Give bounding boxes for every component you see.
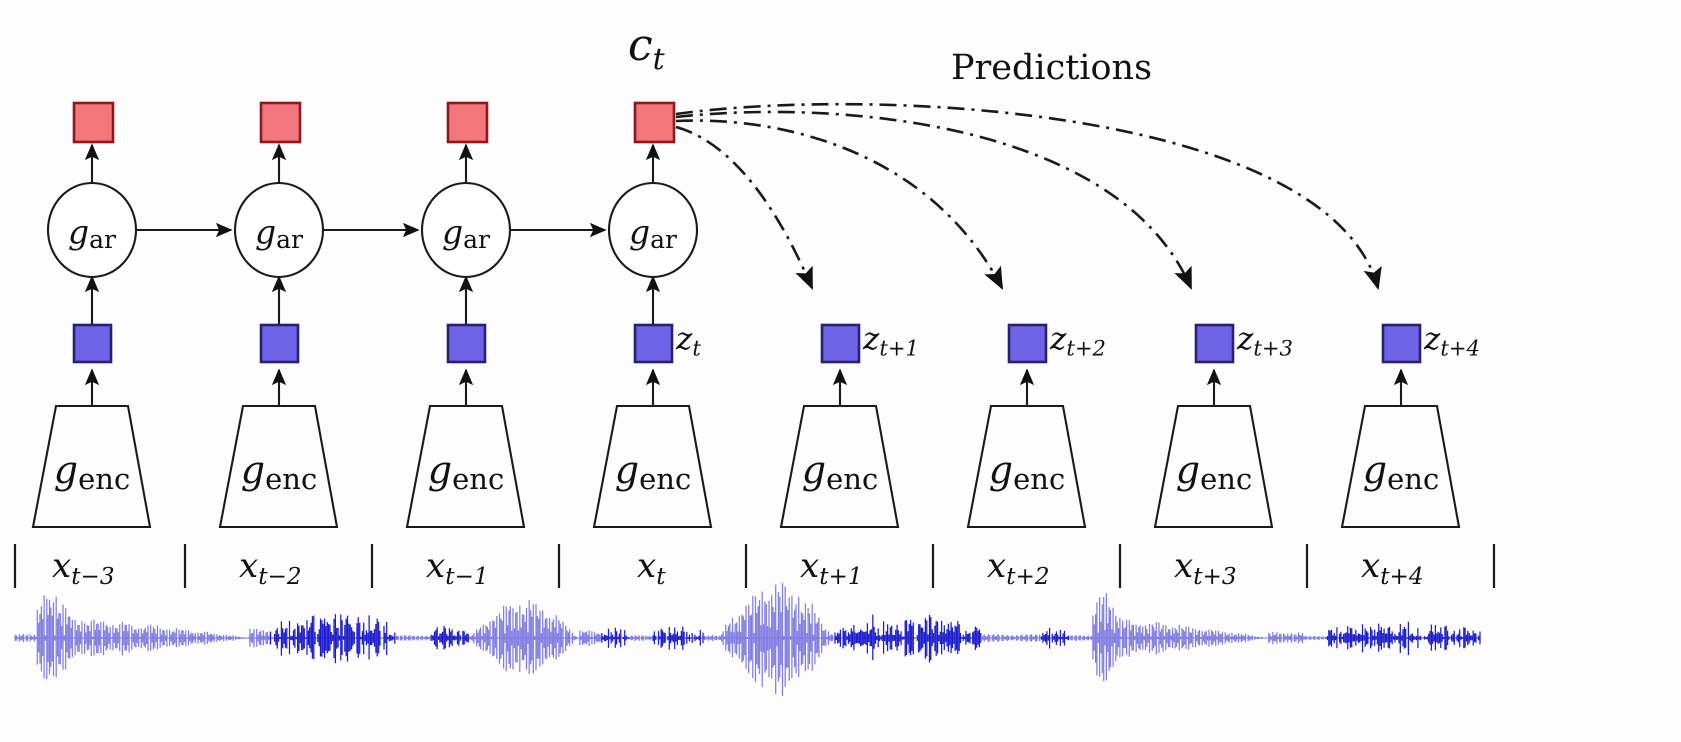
prediction-arrow: [676, 121, 1002, 288]
latent-label-z-t1: zt+1: [863, 321, 919, 360]
latent-square: [261, 325, 298, 362]
encoder-label: genc: [1176, 448, 1252, 496]
predictions-label: Predictions: [951, 48, 1152, 88]
encoder-label: genc: [428, 448, 504, 496]
waveform-segment: [578, 630, 600, 646]
encoder-label: genc: [54, 448, 130, 496]
latent-square: [1009, 325, 1046, 362]
diagram-svg: genc genc genc genc genc genc genc genc …: [0, 0, 1681, 742]
waveform-segment: [652, 627, 703, 650]
input-label-x-t: xt: [637, 546, 665, 590]
latent-label-z-t3: zt+3: [1237, 321, 1293, 360]
input-label-x-tp4: xt+4: [1361, 546, 1424, 590]
encoder-labels: genc genc genc genc genc genc genc genc: [54, 448, 1439, 496]
latent-square: [1383, 325, 1420, 362]
waveform-segment: [271, 614, 395, 663]
latent-squares: [74, 325, 1420, 362]
latent-to-gar-arrows: [92, 277, 653, 325]
input-label-x-t1: xt−1: [426, 546, 489, 590]
prediction-arrows: [676, 104, 1378, 288]
encoder-label: genc: [615, 448, 691, 496]
waveform-segment: [249, 629, 271, 648]
waveform-segment: [469, 600, 578, 674]
latent-square: [822, 325, 859, 362]
latent-square: [635, 325, 672, 362]
waveform: [14, 583, 1480, 696]
waveform-segment: [14, 634, 36, 642]
prediction-arrow: [676, 104, 1378, 288]
latent-square: [1196, 325, 1233, 362]
encoder-label: genc: [802, 448, 878, 496]
figure-canvas: genc genc genc genc genc genc genc genc …: [0, 0, 1681, 742]
input-label-x-tp2: xt+2: [987, 546, 1050, 590]
waveform-segment: [1304, 636, 1326, 640]
context-square: [74, 103, 113, 142]
context-squares: [74, 103, 674, 142]
encoder-label: genc: [1363, 448, 1439, 496]
encoder-label: genc: [241, 448, 317, 496]
input-label-x-tp1: xt+1: [800, 546, 863, 590]
latent-label-z-t: zt: [676, 321, 701, 360]
frame-separators: [15, 544, 1494, 588]
waveform-segment: [835, 615, 981, 663]
waveform-segment: [718, 583, 834, 696]
autoregressive-labels: gar gar gar gar: [68, 212, 677, 254]
input-label-x-t2: xt−2: [239, 546, 302, 590]
context-square: [448, 103, 487, 142]
input-label-x-tp3: xt+3: [1174, 546, 1237, 590]
latent-square: [74, 325, 111, 362]
waveform-segment: [630, 635, 652, 641]
waveform-segment: [1326, 622, 1480, 655]
latent-label-z-t4: zt+4: [1424, 321, 1480, 360]
gar-to-context-arrows: [92, 145, 653, 183]
waveform-segment: [1070, 635, 1092, 641]
encoder-to-latent-arrows: [92, 370, 1401, 406]
prediction-arrow: [676, 127, 812, 288]
latent-square: [448, 325, 485, 362]
latent-label-z-t2: zt+2: [1050, 321, 1106, 360]
context-title-label: ct: [628, 20, 665, 77]
context-square: [635, 103, 674, 142]
context-title-sub: t: [653, 42, 665, 77]
waveform-segment: [1092, 593, 1268, 681]
encoder-label: genc: [989, 448, 1065, 496]
waveform-segment: [36, 595, 248, 679]
input-label-x-t3: xt−3: [52, 546, 115, 590]
context-square: [261, 103, 300, 142]
context-title-base: c: [628, 20, 653, 71]
